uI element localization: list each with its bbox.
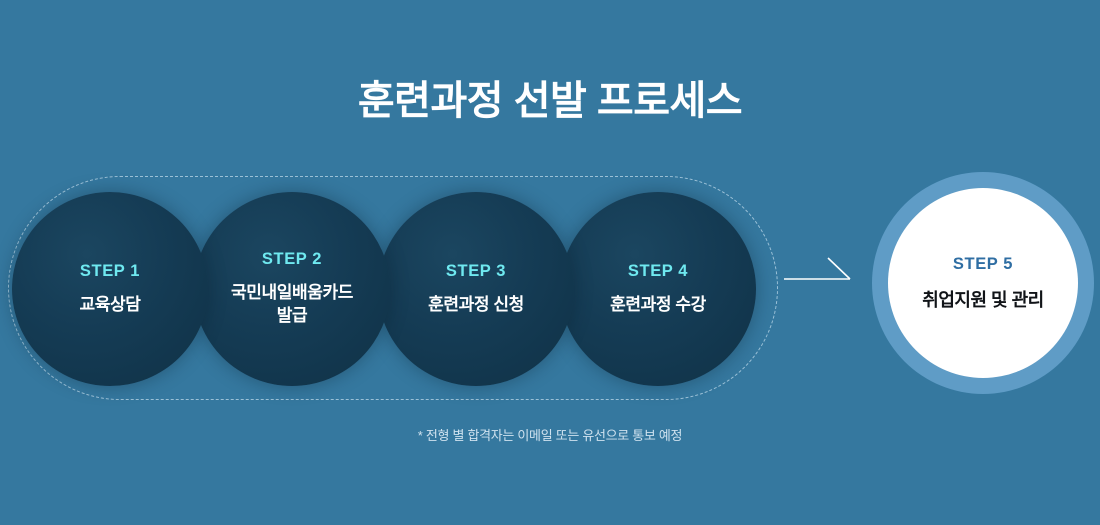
footnote-text: * 전형 별 합격자는 이메일 또는 유선으로 통보 예정 <box>0 425 1100 444</box>
arrow-right-icon <box>784 248 856 288</box>
step-1-text-line1: 교육상담 <box>80 294 141 317</box>
step-3-text-line1: 훈련과정 신청 <box>428 294 524 317</box>
step-2-text-line1: 국민내일배움카드 <box>231 282 353 305</box>
step-3-label: STEP 3 <box>446 262 506 281</box>
step-2-text-line2: 발급 <box>231 305 353 328</box>
step-5-text: 취업지원 및 관리 <box>922 286 1043 312</box>
step-circle-1[interactable]: STEP 1 교육상담 <box>12 192 208 386</box>
step-2-text: 국민내일배움카드 발급 <box>225 282 359 328</box>
step-5-label: STEP 5 <box>953 255 1013 274</box>
step-5-inner: STEP 5 취업지원 및 관리 <box>888 188 1078 378</box>
process-infographic: { "page": { "title": "훈련과정 선발 프로세스", "fo… <box>0 0 1100 525</box>
step-circle-4[interactable]: STEP 4 훈련과정 수강 <box>560 192 756 386</box>
step-circle-3[interactable]: STEP 3 훈련과정 신청 <box>378 192 574 386</box>
step-circle-5[interactable]: STEP 5 취업지원 및 관리 <box>872 172 1094 394</box>
step-circle-2[interactable]: STEP 2 국민내일배움카드 발급 <box>194 192 390 386</box>
step-2-label: STEP 2 <box>262 250 322 269</box>
step-4-text-line1: 훈련과정 수강 <box>610 294 706 317</box>
step-1-text: 교육상담 <box>74 294 147 317</box>
step-1-label: STEP 1 <box>80 262 140 281</box>
step-4-label: STEP 4 <box>628 262 688 281</box>
step-3-text: 훈련과정 신청 <box>422 294 530 317</box>
step-4-text: 훈련과정 수강 <box>604 294 712 317</box>
